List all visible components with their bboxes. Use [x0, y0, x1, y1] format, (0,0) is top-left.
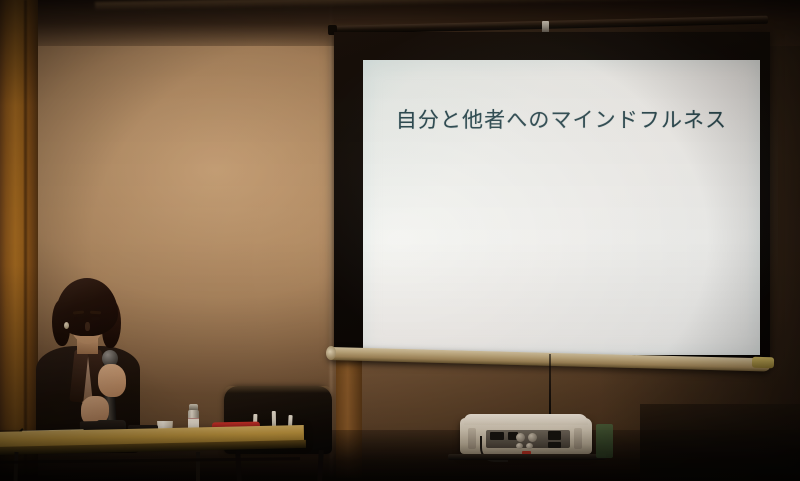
slide-title: 自分と他者へのマインドフルネス [363, 104, 760, 134]
projector-antenna [549, 354, 551, 416]
projector-knob-d [526, 443, 533, 449]
projector-vent-right [574, 428, 582, 449]
projector-port-audio [548, 442, 561, 448]
table-leg-right [196, 452, 200, 481]
projector-knob-b [528, 433, 537, 442]
video-projector [460, 412, 592, 458]
presenter-nose [85, 322, 90, 331]
presenter-eye-left [74, 317, 83, 320]
presenter-eye-right [91, 317, 100, 320]
presentation-room-photo: 自分と他者へのマインドフルネス [0, 0, 800, 481]
dark-foreground-furniture [640, 404, 800, 481]
side-equipment [596, 424, 613, 458]
screen-bar-pull-tab [752, 357, 774, 369]
chair-back-highlight [224, 386, 332, 393]
projector-stand [448, 454, 606, 460]
projector-knob-a [516, 433, 525, 442]
screen-border: 自分と他者へのマインドフルネス [334, 32, 770, 357]
projection-screen-assembly: 自分と他者へのマインドフルネス [320, 10, 770, 390]
presenter-hand-upper [98, 364, 126, 397]
projector-knob-c [516, 443, 523, 449]
projector-port-usb [548, 431, 561, 440]
presenter-earring [64, 322, 69, 329]
projector-vent-left [468, 428, 476, 449]
projector-top-surface [464, 414, 588, 425]
projected-slide: 自分と他者へのマインドフルネス [363, 60, 760, 355]
